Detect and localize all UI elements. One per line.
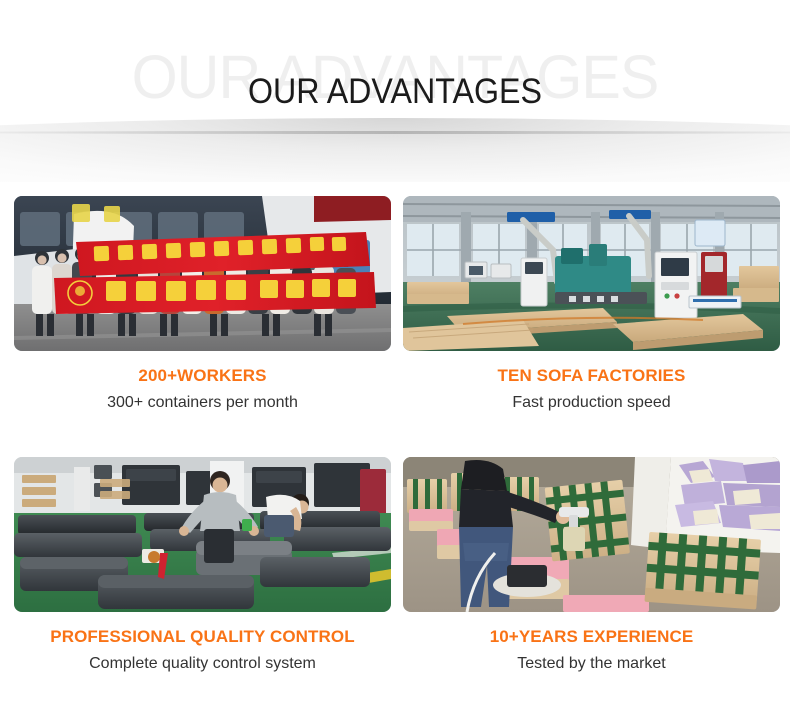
group-photo-illustration	[14, 196, 391, 351]
advantage-card-workers[interactable]: 200+WORKERS 300+ containers per month	[14, 196, 391, 412]
advantage-card-quality-control[interactable]: PROFESSIONAL QUALITY CONTROL Complete qu…	[14, 457, 391, 673]
our-advantages-page: OUR ADVANTAGES OUR ADVANTAGES	[0, 0, 790, 722]
card-subtitle: Complete quality control system	[14, 655, 391, 673]
page-title: OUR ADVANTAGES	[32, 74, 759, 109]
card-subtitle: Fast production speed	[403, 394, 780, 412]
workers-inspecting-grey-sofas-image	[14, 457, 391, 612]
frame-assembly-illustration	[403, 457, 780, 612]
header-divider-line	[0, 131, 790, 134]
card-heading: TEN SOFA FACTORIES	[403, 366, 780, 386]
header-shadow-divider	[0, 118, 790, 182]
advantage-card-experience[interactable]: 10+YEARS EXPERIENCE Tested by the market	[403, 457, 780, 673]
group-photo-workers-with-red-banners-in-front-of-bus-image	[14, 196, 391, 351]
card-heading: 200+WORKERS	[14, 366, 391, 386]
card-subtitle: Tested by the market	[403, 655, 780, 673]
worker-assembling-sofa-frames-image	[403, 457, 780, 612]
factory-illustration	[403, 196, 780, 351]
card-subtitle: 300+ containers per month	[14, 394, 391, 412]
advantages-grid: 200+WORKERS 300+ containers per month	[14, 196, 776, 673]
page-header: OUR ADVANTAGES OUR ADVANTAGES	[0, 0, 790, 182]
factory-floor-cnc-woodworking-machines-image	[403, 196, 780, 351]
advantage-card-factories[interactable]: TEN SOFA FACTORIES Fast production speed	[403, 196, 780, 412]
card-heading: PROFESSIONAL QUALITY CONTROL	[14, 627, 391, 647]
card-heading: 10+YEARS EXPERIENCE	[403, 627, 780, 647]
quality-control-illustration	[14, 457, 391, 612]
